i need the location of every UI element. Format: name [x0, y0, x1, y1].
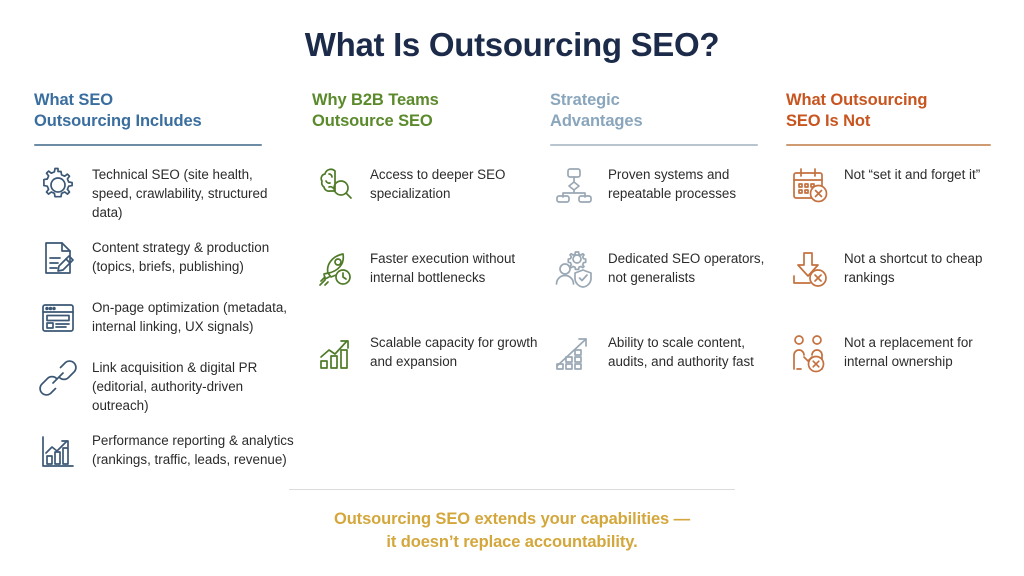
footer: Outsourcing SEO extends your capabilitie…	[0, 489, 1024, 554]
handshake-x-icon	[786, 329, 834, 377]
column-header: What SEO Outsourcing Includes	[34, 90, 294, 132]
list-item: Content strategy & production (topics, b…	[34, 234, 294, 282]
column-what-seo-outsourcing-includes: What SEO Outsourcing Includes Technical …	[34, 90, 312, 486]
list-item-text: Dedicated SEO operators, not generalists	[608, 245, 774, 287]
list-item: Not a replacement for internal ownership	[786, 329, 1014, 377]
column-rule	[312, 144, 517, 146]
column-rule	[786, 144, 991, 146]
gear-icon	[34, 161, 82, 209]
growth-chart-icon	[312, 329, 360, 377]
page-title: What Is Outsourcing SEO?	[0, 0, 1024, 63]
column-why-b2b-teams-outsource-seo: Why B2B Teams Outsource SEO Access to de…	[312, 90, 550, 412]
flowchart-hierarchy-icon	[550, 161, 598, 209]
brain-magnifier-icon	[312, 161, 360, 209]
list-item: Scalable capacity for growth and expansi…	[312, 329, 538, 377]
list-item: Ability to scale content, audits, and au…	[550, 329, 774, 377]
column-header: What Outsourcing SEO Is Not	[786, 90, 1014, 132]
columns-container: What SEO Outsourcing Includes Technical …	[0, 63, 1024, 486]
list-item: On-page optimization (metadata, internal…	[34, 294, 294, 342]
list-item: Dedicated SEO operators, not generalists	[550, 245, 774, 293]
infographic-root: What Is Outsourcing SEO? What SEO Outsou…	[0, 0, 1024, 576]
list-item: Not “set it and forget it”	[786, 161, 1014, 209]
list-item: Link acquisition & digital PR (editorial…	[34, 354, 294, 415]
list-item-text: Ability to scale content, audits, and au…	[608, 329, 774, 371]
bar-chart-arrow-icon	[34, 427, 82, 475]
list-item: Faster execution without internal bottle…	[312, 245, 538, 293]
list-item-text: Scalable capacity for growth and expansi…	[370, 329, 538, 371]
rocket-clock-icon	[312, 245, 360, 293]
chain-link-icon	[34, 354, 82, 402]
list-item: Access to deeper SEO specialization	[312, 161, 538, 209]
list-item: Technical SEO (site health, speed, crawl…	[34, 161, 294, 222]
list-item-text: Link acquisition & digital PR (editorial…	[92, 354, 294, 415]
list-item: Not a shortcut to cheap rankings	[786, 245, 1014, 293]
list-item: Performance reporting & analytics (ranki…	[34, 427, 294, 475]
list-item-text: Access to deeper SEO specialization	[370, 161, 538, 203]
list-item: Proven systems and repeatable processes	[550, 161, 774, 209]
list-item-text: Not “set it and forget it”	[844, 161, 980, 184]
list-item-text: On-page optimization (metadata, internal…	[92, 294, 294, 336]
person-gear-shield-icon	[550, 245, 598, 293]
list-item-text: Performance reporting & analytics (ranki…	[92, 427, 294, 469]
footer-divider	[289, 489, 735, 490]
document-pencil-icon	[34, 234, 82, 282]
column-rule	[550, 144, 758, 146]
column-header: Why B2B Teams Outsource SEO	[312, 90, 538, 132]
list-item-text: Not a shortcut to cheap rankings	[844, 245, 1014, 287]
list-item-text: Proven systems and repeatable processes	[608, 161, 774, 203]
list-item-text: Technical SEO (site health, speed, crawl…	[92, 161, 294, 222]
ascending-blocks-arrow-icon	[550, 329, 598, 377]
list-item-text: Not a replacement for internal ownership	[844, 329, 1014, 371]
calendar-x-icon	[786, 161, 834, 209]
list-item-text: Content strategy & production (topics, b…	[92, 234, 294, 276]
download-arrow-x-icon	[786, 245, 834, 293]
footer-callout-text: Outsourcing SEO extends your capabilitie…	[0, 508, 1024, 554]
column-strategic-advantages: Strategic Advantages Proven systems and …	[550, 90, 786, 412]
browser-layout-icon	[34, 294, 82, 342]
list-item-text: Faster execution without internal bottle…	[370, 245, 538, 287]
column-rule	[34, 144, 262, 146]
column-header: Strategic Advantages	[550, 90, 774, 132]
column-what-outsourcing-seo-is-not: What Outsourcing SEO Is Not Not “set it …	[786, 90, 1014, 412]
